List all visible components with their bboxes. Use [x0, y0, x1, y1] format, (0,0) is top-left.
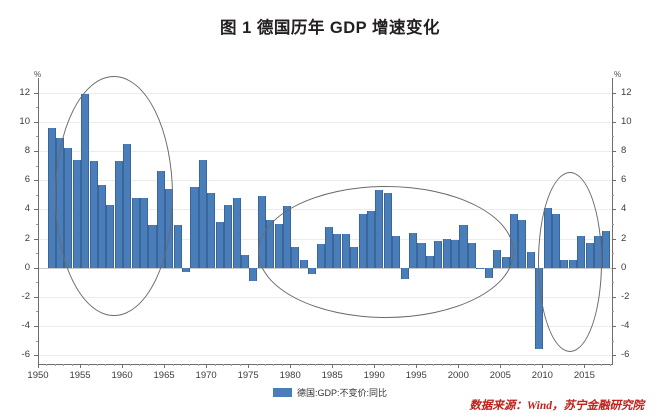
x-axis-minor-tick — [551, 364, 552, 366]
y-axis-tick-label: 4 — [621, 203, 643, 214]
y-axis-left — [38, 78, 39, 364]
gridline — [38, 355, 613, 356]
x-axis-minor-tick — [114, 364, 115, 366]
y-axis-tick-label: -2 — [8, 291, 30, 302]
bar — [199, 160, 207, 268]
x-axis-minor-tick — [610, 364, 611, 366]
x-axis-minor-tick — [156, 364, 157, 366]
y-axis-tick-label: 10 — [8, 116, 30, 127]
x-axis-minor-tick — [517, 364, 518, 366]
y-axis-tick — [612, 122, 616, 123]
y-axis-tick-label: 0 — [8, 262, 30, 273]
x-axis-tick — [542, 364, 543, 368]
y-axis-minor-tick — [36, 311, 38, 312]
x-axis-tick — [458, 364, 459, 368]
ellipse-1950s-highgrowth — [55, 76, 173, 316]
y-axis-tick-label: 6 — [8, 174, 30, 185]
x-axis-minor-tick — [450, 364, 451, 366]
x-axis-minor-tick — [198, 364, 199, 366]
y-axis-tick — [612, 326, 616, 327]
bar — [216, 222, 224, 267]
x-axis-tick — [584, 364, 585, 368]
y-axis-minor-tick — [612, 341, 614, 342]
x-axis-minor-tick — [576, 364, 577, 366]
x-axis-minor-tick — [408, 364, 409, 366]
ellipse-1975-2003-moderate — [258, 186, 514, 318]
x-axis-minor-tick — [147, 364, 148, 366]
y-axis-tick — [612, 297, 616, 298]
bar — [182, 268, 190, 272]
x-axis-minor-tick — [399, 364, 400, 366]
y-axis-tick — [612, 209, 616, 210]
x-axis-tick-label: 1960 — [102, 370, 142, 381]
x-axis-minor-tick — [88, 364, 89, 366]
y-axis-tick-label: 4 — [8, 203, 30, 214]
x-axis-minor-tick — [273, 364, 274, 366]
x-axis-minor-tick — [315, 364, 316, 366]
x-axis-tick-label: 2015 — [564, 370, 604, 381]
y-axis-minor-tick — [612, 311, 614, 312]
x-axis-minor-tick — [509, 364, 510, 366]
x-axis-minor-tick — [63, 364, 64, 366]
x-axis-tick — [332, 364, 333, 368]
y-axis-tick — [612, 268, 616, 269]
y-axis-tick — [612, 239, 616, 240]
x-axis-minor-tick — [282, 364, 283, 366]
y-axis-minor-tick — [36, 107, 38, 108]
y-axis-minor-tick — [36, 341, 38, 342]
x-axis-minor-tick — [475, 364, 476, 366]
bar — [233, 198, 241, 268]
x-axis-minor-tick — [72, 364, 73, 366]
bar — [174, 225, 182, 267]
source-note: 数据来源：Wind，苏宁金融研究院 — [469, 397, 644, 413]
y-axis-tick-label: -6 — [621, 349, 643, 360]
legend-label: 德国:GDP:不变价:同比 — [297, 386, 387, 399]
x-axis-minor-tick — [139, 364, 140, 366]
x-axis-tick — [206, 364, 207, 368]
y-axis-unit-right: % — [614, 70, 621, 79]
y-axis-tick-label: 0 — [621, 262, 643, 273]
y-axis-minor-tick — [612, 136, 614, 137]
chart-figure: 图 1 德国历年 GDP 增速变化 % % 121086420-2-4-6 12… — [0, 0, 660, 417]
x-axis-tick — [500, 364, 501, 368]
x-axis-tick — [290, 364, 291, 368]
plot-area — [38, 78, 613, 364]
bar — [190, 187, 198, 267]
x-axis-tick-label: 2005 — [480, 370, 520, 381]
gridline — [38, 326, 613, 327]
x-axis-minor-tick — [265, 364, 266, 366]
x-axis-tick-label: 1970 — [186, 370, 226, 381]
x-axis-minor-tick — [601, 364, 602, 366]
x-axis-minor-tick — [559, 364, 560, 366]
x-axis-minor-tick — [383, 364, 384, 366]
y-axis-tick — [34, 239, 38, 240]
y-axis-minor-tick — [612, 195, 614, 196]
x-axis-minor-tick — [484, 364, 485, 366]
x-axis-minor-tick — [593, 364, 594, 366]
y-axis-tick — [34, 355, 38, 356]
x-axis-minor-tick — [341, 364, 342, 366]
x-axis-tick — [374, 364, 375, 368]
bar — [241, 255, 249, 268]
bar — [249, 268, 257, 281]
y-axis-tick — [34, 326, 38, 327]
y-axis-tick-label: 12 — [8, 87, 30, 98]
y-axis-tick — [34, 93, 38, 94]
x-axis-minor-tick — [189, 364, 190, 366]
y-axis-tick-label: 6 — [621, 174, 643, 185]
x-axis-tick — [38, 364, 39, 368]
y-axis-tick — [34, 297, 38, 298]
y-axis-tick-label: 8 — [8, 145, 30, 156]
page-title: 图 1 德国历年 GDP 增速变化 — [0, 14, 660, 38]
y-axis-tick-label: -4 — [8, 320, 30, 331]
y-axis-minor-tick — [36, 195, 38, 196]
x-axis-minor-tick — [223, 364, 224, 366]
y-axis-tick-label: 10 — [621, 116, 643, 127]
x-axis-tick-label: 1990 — [354, 370, 394, 381]
x-axis-minor-tick — [534, 364, 535, 366]
x-axis-tick-label: 1980 — [270, 370, 310, 381]
x-axis-minor-tick — [568, 364, 569, 366]
x-axis-tick-label: 1965 — [144, 370, 184, 381]
y-axis-tick — [612, 151, 616, 152]
x-axis-minor-tick — [105, 364, 106, 366]
bar — [207, 193, 215, 267]
x-axis-minor-tick — [173, 364, 174, 366]
y-axis-tick — [34, 268, 38, 269]
x-axis-tick-label: 1955 — [60, 370, 100, 381]
x-axis-minor-tick — [55, 364, 56, 366]
x-axis-minor-tick — [324, 364, 325, 366]
x-axis-minor-tick — [433, 364, 434, 366]
y-axis-minor-tick — [612, 282, 614, 283]
x-axis-tick-label: 1975 — [228, 370, 268, 381]
y-axis-tick — [34, 122, 38, 123]
y-axis-tick — [34, 151, 38, 152]
legend-color-swatch — [273, 388, 292, 397]
x-axis-minor-tick — [231, 364, 232, 366]
x-axis-minor-tick — [130, 364, 131, 366]
x-axis-minor-tick — [391, 364, 392, 366]
y-axis-minor-tick — [612, 224, 614, 225]
y-axis-tick — [612, 93, 616, 94]
y-axis-tick-label: 2 — [8, 233, 30, 244]
bar — [224, 205, 232, 268]
y-axis-minor-tick — [36, 224, 38, 225]
y-axis-tick — [612, 180, 616, 181]
x-axis-minor-tick — [349, 364, 350, 366]
x-axis-tick-label: 2000 — [438, 370, 478, 381]
x-axis-tick-label: 2010 — [522, 370, 562, 381]
x-axis-minor-tick — [240, 364, 241, 366]
x-axis — [38, 364, 613, 365]
x-axis-tick — [248, 364, 249, 368]
x-axis-minor-tick — [526, 364, 527, 366]
x-axis-tick — [416, 364, 417, 368]
y-axis-tick-label: 2 — [621, 233, 643, 244]
y-axis-tick-label: -4 — [621, 320, 643, 331]
x-axis-minor-tick — [467, 364, 468, 366]
x-axis-minor-tick — [307, 364, 308, 366]
y-axis-tick — [34, 209, 38, 210]
y-axis-minor-tick — [612, 166, 614, 167]
x-axis-minor-tick — [97, 364, 98, 366]
y-axis-tick-label: -2 — [621, 291, 643, 302]
x-axis-tick — [164, 364, 165, 368]
y-axis-minor-tick — [36, 253, 38, 254]
x-axis-minor-tick — [442, 364, 443, 366]
x-axis-minor-tick — [425, 364, 426, 366]
y-axis-tick-label: 12 — [621, 87, 643, 98]
bar — [527, 252, 535, 268]
bar — [602, 231, 610, 267]
y-axis-minor-tick — [612, 107, 614, 108]
x-axis-minor-tick — [257, 364, 258, 366]
x-axis-minor-tick — [492, 364, 493, 366]
y-axis-minor-tick — [612, 253, 614, 254]
x-axis-minor-tick — [299, 364, 300, 366]
x-axis-tick-label: 1985 — [312, 370, 352, 381]
x-axis-tick-label: 1995 — [396, 370, 436, 381]
x-axis-minor-tick — [215, 364, 216, 366]
x-axis-tick — [122, 364, 123, 368]
y-axis-tick — [612, 355, 616, 356]
x-axis-minor-tick — [181, 364, 182, 366]
y-axis-minor-tick — [36, 282, 38, 283]
y-axis-tick — [34, 180, 38, 181]
ellipse-2005-2017-recent — [538, 172, 602, 352]
x-axis-minor-tick — [366, 364, 367, 366]
x-axis-minor-tick — [46, 364, 47, 366]
y-axis-minor-tick — [36, 166, 38, 167]
y-axis-tick-label: -6 — [8, 349, 30, 360]
x-axis-tick — [80, 364, 81, 368]
x-axis-minor-tick — [357, 364, 358, 366]
bar — [518, 220, 526, 268]
y-axis-minor-tick — [36, 136, 38, 137]
x-axis-tick-label: 1950 — [18, 370, 58, 381]
y-axis-tick-label: 8 — [621, 145, 643, 156]
